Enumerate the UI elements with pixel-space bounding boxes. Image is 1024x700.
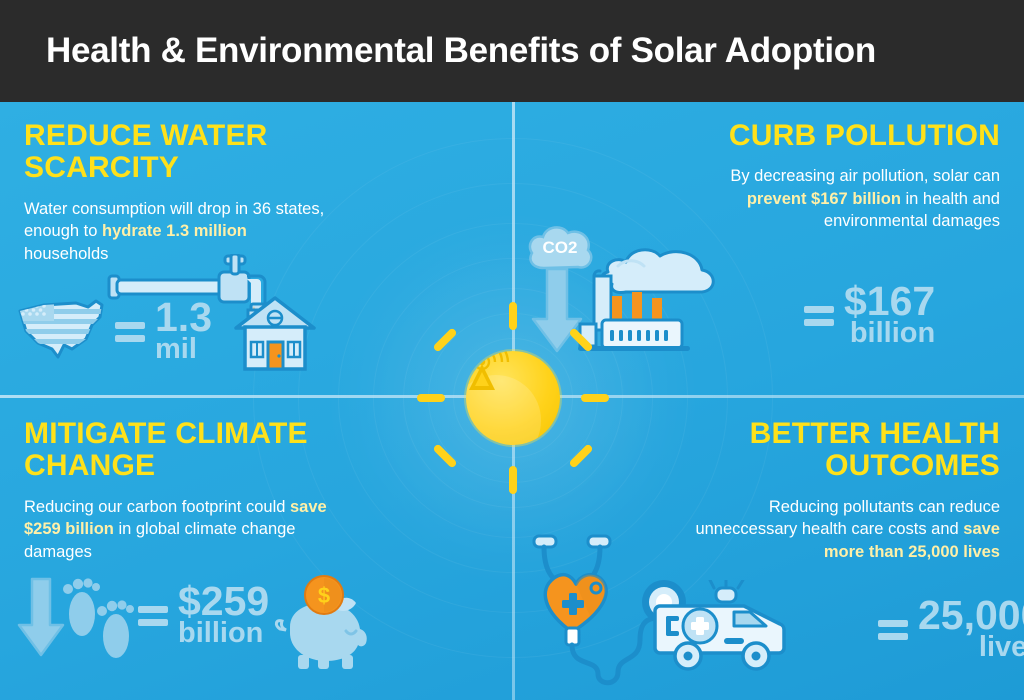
quadrant-curb-pollution: CURB POLLUTION By decreasing air polluti… [512, 102, 1024, 397]
body-text-highlight: hydrate 1.3 million [102, 222, 247, 240]
stat-climate-savings: $259 billion [138, 582, 269, 647]
body-text-part: By decreasing air pollution, solar can [730, 167, 1000, 185]
quadrant-body-mitigate-climate-change: Reducing our carbon footprint could save… [24, 496, 334, 563]
equals-icon [138, 601, 168, 629]
stat-pollution-savings: $167 billion [804, 282, 935, 347]
quadrant-title-mitigate-climate-change: MITIGATE CLIMATE CHANGE [24, 418, 354, 483]
stat-value-block: $167 billion [844, 282, 935, 347]
stat-value: 25,000 [918, 596, 1024, 634]
infographic-canvas: REDUCE WATER SCARCITY Water consumption … [0, 102, 1024, 700]
quadrant-reduce-water-scarcity: REDUCE WATER SCARCITY Water consumption … [0, 102, 512, 397]
factory-icon [578, 274, 698, 361]
stat-value-block: 25,000 lives [918, 596, 1024, 661]
body-text-part: households [24, 245, 108, 263]
dollar-sign: $ [318, 583, 330, 608]
ambulance-icon [652, 580, 792, 681]
stat-value: $259 [178, 582, 269, 620]
stat-value-block: 1.3 mil [155, 298, 212, 363]
body-text-highlight: prevent $167 billion [747, 190, 901, 208]
body-text-part: Reducing pollutants can reduce unneccess… [695, 498, 1000, 538]
stat-unit: billion [844, 320, 935, 347]
quadrant-title-better-health-outcomes: BETTER HEALTH OUTCOMES [670, 418, 1000, 483]
stat-value: $167 [844, 282, 935, 320]
stat-unit: mil [155, 336, 212, 363]
sun-ray [417, 394, 445, 402]
stat-value-block: $259 billion [178, 582, 269, 647]
equals-icon [878, 615, 908, 643]
stat-water-households: 1.3 mil [115, 298, 212, 363]
quadrant-body-better-health-outcomes: Reducing pollutants can reduce unneccess… [685, 496, 1000, 563]
equals-icon [804, 301, 834, 329]
stat-unit: billion [178, 620, 269, 647]
us-map-icon [14, 295, 112, 372]
sun-ray [581, 394, 609, 402]
quadrant-title-curb-pollution: CURB POLLUTION [670, 120, 1000, 152]
equals-icon [115, 317, 145, 345]
footprints-icon [58, 572, 140, 667]
stat-lives-saved: 25,000 lives [878, 596, 1024, 661]
stat-unit: lives [918, 634, 1024, 661]
down-arrow-icon [530, 267, 584, 358]
piggy-bank-icon: $ [272, 575, 372, 680]
page-title: Health & Environmental Benefits of Solar… [0, 31, 876, 71]
quadrant-body-curb-pollution: By decreasing air pollution, solar can p… [685, 165, 1000, 232]
page-header: Health & Environmental Benefits of Solar… [0, 0, 1024, 102]
sun-ray [509, 302, 517, 330]
quadrant-title-reduce-water-scarcity: REDUCE WATER SCARCITY [24, 120, 354, 185]
sun-ray [509, 466, 517, 494]
co2-label: CO2 [543, 238, 578, 257]
sun-core [466, 351, 560, 445]
house-icon [232, 294, 318, 379]
body-text-part: Reducing our carbon footprint could [24, 498, 290, 516]
stat-value: 1.3 [155, 298, 212, 336]
